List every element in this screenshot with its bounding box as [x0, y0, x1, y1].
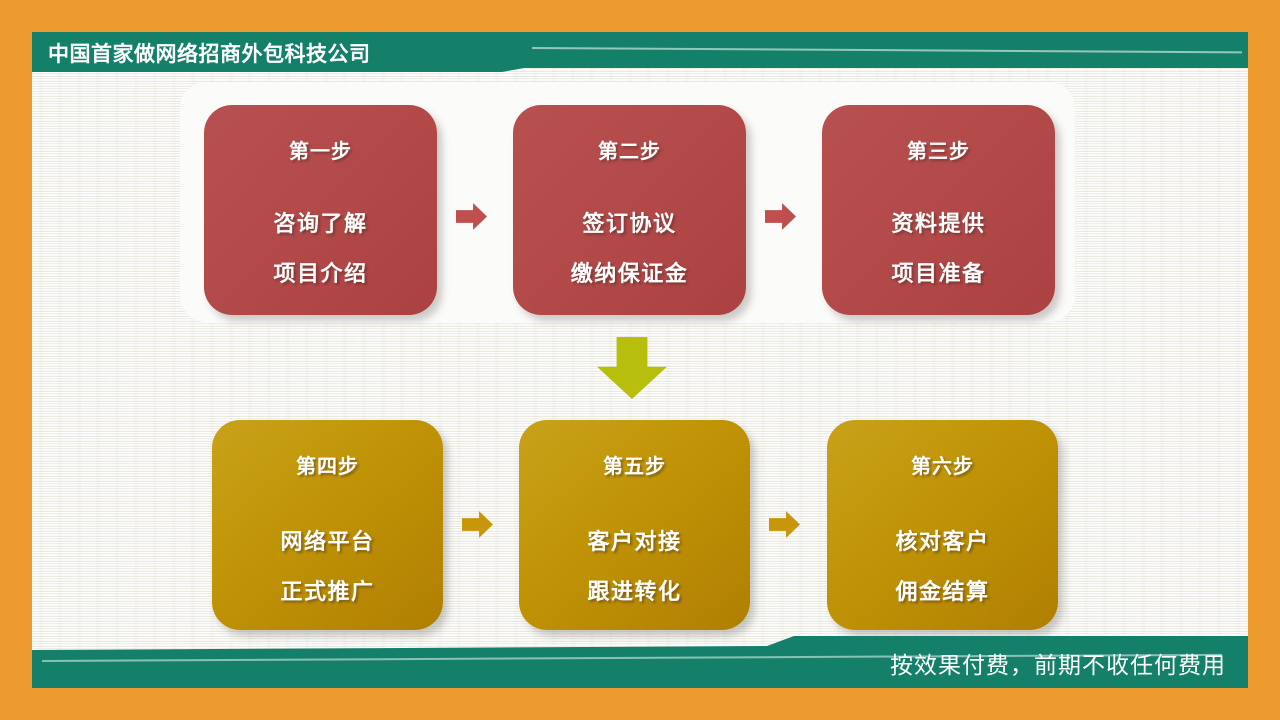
step-card-3-title: 第三步 [822, 135, 1055, 164]
step-card-1-title: 第一步 [204, 135, 437, 164]
slide: 中国首家做网络招商外包科技公司 第一步 咨询了解 项目介绍 第二步 签订协议 缴… [0, 0, 1280, 720]
step-card-2[interactable]: 第二步 签订协议 缴纳保证金 [513, 105, 746, 315]
step-card-6-title: 第六步 [827, 450, 1058, 479]
step-card-4-line2: 正式推广 [212, 574, 443, 606]
page-title: 中国首家做网络招商外包科技公司 [48, 38, 371, 68]
step-card-5-title: 第五步 [519, 450, 750, 479]
step-card-1-line2: 项目介绍 [204, 256, 437, 288]
step-card-5-line1: 客户对接 [519, 524, 750, 556]
arrow-right-icon-4 [769, 510, 800, 539]
step-card-3[interactable]: 第三步 资料提供 项目准备 [822, 105, 1055, 315]
step-card-6-line1: 核对客户 [827, 524, 1058, 556]
step-card-3-line2: 项目准备 [822, 256, 1055, 288]
header-hairline [532, 47, 1242, 53]
step-card-4-line1: 网络平台 [212, 524, 443, 556]
step-card-6[interactable]: 第六步 核对客户 佣金结算 [827, 420, 1058, 630]
step-card-1-line1: 咨询了解 [204, 206, 437, 238]
arrow-down-icon [597, 337, 667, 399]
step-card-3-line1: 资料提供 [822, 206, 1055, 238]
step-card-1[interactable]: 第一步 咨询了解 项目介绍 [204, 105, 437, 315]
footer-band: 按效果付费，前期不收任何费用 [32, 636, 1248, 688]
slide-canvas: 中国首家做网络招商外包科技公司 第一步 咨询了解 项目介绍 第二步 签订协议 缴… [32, 32, 1248, 688]
step-card-2-line1: 签订协议 [513, 206, 746, 238]
step-card-2-title: 第二步 [513, 135, 746, 164]
footer-tagline: 按效果付费，前期不收任何费用 [890, 646, 1226, 680]
step-card-2-line2: 缴纳保证金 [513, 256, 746, 288]
step-card-4-title: 第四步 [212, 450, 443, 479]
arrow-right-icon-3 [462, 510, 493, 539]
step-card-4[interactable]: 第四步 网络平台 正式推广 [212, 420, 443, 630]
step-card-5[interactable]: 第五步 客户对接 跟进转化 [519, 420, 750, 630]
step-card-6-line2: 佣金结算 [827, 574, 1058, 606]
step-card-5-line2: 跟进转化 [519, 574, 750, 606]
